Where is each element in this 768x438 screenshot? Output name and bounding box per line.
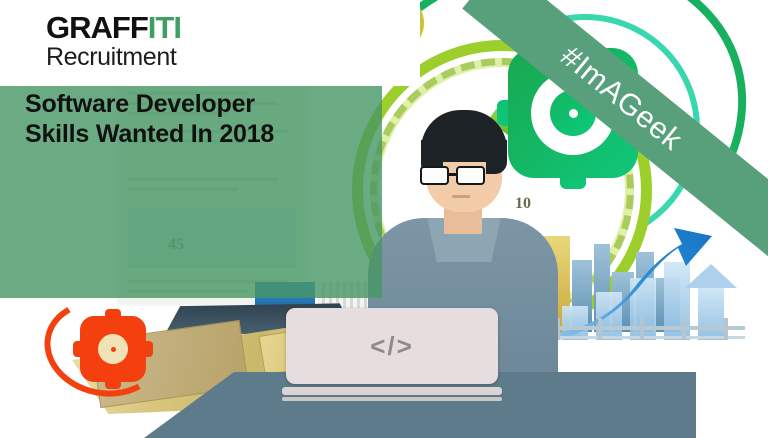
rail-post bbox=[724, 318, 728, 340]
laptop-illustration: </> bbox=[286, 308, 498, 400]
code-icon: </> bbox=[286, 308, 498, 384]
rail-post bbox=[682, 318, 686, 340]
gear-center-dot bbox=[111, 347, 116, 352]
gear-center-dot bbox=[569, 109, 578, 118]
marketing-banner: 5 10 45 bbox=[0, 0, 768, 438]
glasses-lens-right bbox=[456, 166, 485, 185]
red-gear-icon bbox=[80, 316, 146, 382]
laptop-screen: </> bbox=[286, 308, 498, 384]
rail-post bbox=[640, 318, 644, 340]
logo-wordmark: GRAFFITI bbox=[46, 12, 181, 43]
hair-side-right bbox=[486, 140, 507, 174]
laptop-base-edge bbox=[282, 397, 502, 401]
glasses-bridge bbox=[449, 173, 456, 176]
logo-subtitle: Recruitment bbox=[46, 44, 181, 72]
rail-post bbox=[598, 318, 602, 340]
laptop-base bbox=[282, 387, 502, 395]
glasses-lens-left bbox=[420, 166, 449, 185]
brand-logo[interactable]: GRAFFITI Recruitment bbox=[46, 12, 181, 72]
header-bar: GRAFFITI Recruitment bbox=[0, 0, 420, 86]
logo-wordmark-black: GRAFF bbox=[46, 10, 148, 45]
mouth bbox=[452, 195, 470, 198]
logo-wordmark-green: ITI bbox=[148, 10, 181, 45]
